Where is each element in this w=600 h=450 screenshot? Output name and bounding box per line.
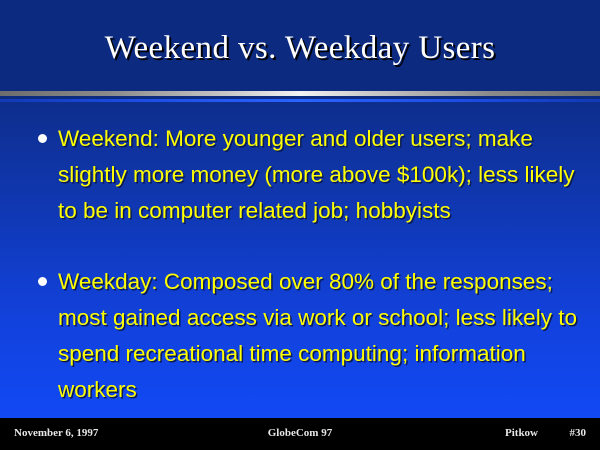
bullet-list: Weekend: More younger and older users; m…: [0, 102, 600, 418]
slide-footer: November 6, 1997 GlobeCom 97 Pitkow #30: [0, 426, 600, 444]
bullet-disc-icon: [38, 277, 47, 286]
bullet-text: Weekend: More younger and older users; m…: [58, 121, 583, 229]
bullet-disc-icon: [38, 134, 47, 143]
footer-author: Pitkow: [505, 426, 538, 440]
list-item: Weekend: More younger and older users; m…: [38, 121, 583, 229]
list-item: Weekday: Composed over 80% of the respon…: [38, 264, 583, 408]
page-title: Weekend vs. Weekday Users: [0, 29, 600, 67]
presentation-slide: Weekend vs. Weekday Users Weekend: More …: [0, 0, 600, 450]
bullet-text: Weekday: Composed over 80% of the respon…: [58, 264, 583, 408]
footer-slide-number: #30: [570, 426, 587, 440]
